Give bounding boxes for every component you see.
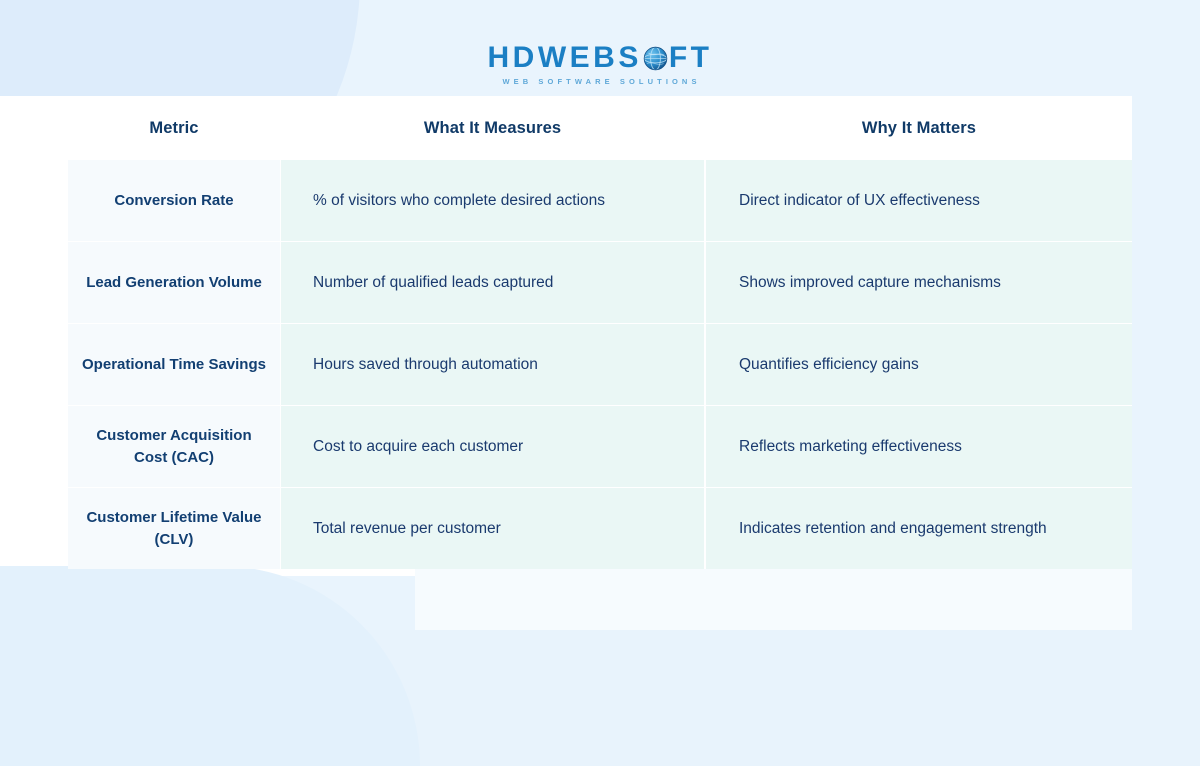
- logo-text-after-globe: FT: [669, 43, 713, 73]
- cell-metric: Lead Generation Volume: [68, 242, 280, 323]
- table-body: Conversion Rate % of visitors who comple…: [68, 160, 1132, 569]
- column-header-why-it-matters: Why It Matters: [706, 96, 1132, 160]
- cell-metric: Customer Lifetime Value (CLV): [68, 488, 280, 569]
- cell-why-it-matters: Direct indicator of UX effectiveness: [706, 160, 1132, 241]
- cell-why-it-matters: Reflects marketing effectiveness: [706, 406, 1132, 487]
- cell-metric: Operational Time Savings: [68, 324, 280, 405]
- table-row: Customer Lifetime Value (CLV) Total reve…: [68, 488, 1132, 569]
- cell-metric: Conversion Rate: [68, 160, 280, 241]
- decorative-panel-bottom-right: [415, 566, 1200, 630]
- cell-what-it-measures: % of visitors who complete desired actio…: [281, 160, 704, 241]
- cell-metric: Customer Acquisition Cost (CAC): [68, 406, 280, 487]
- cell-what-it-measures: Hours saved through automation: [281, 324, 704, 405]
- column-header-what-it-measures: What It Measures: [281, 96, 704, 160]
- column-header-metric: Metric: [68, 96, 280, 160]
- page-margin-right: [1132, 0, 1200, 630]
- cell-what-it-measures: Number of qualified leads captured: [281, 242, 704, 323]
- cell-why-it-matters: Indicates retention and engagement stren…: [706, 488, 1132, 569]
- table-row: Customer Acquisition Cost (CAC) Cost to …: [68, 406, 1132, 487]
- cell-what-it-measures: Total revenue per customer: [281, 488, 704, 569]
- metrics-table: Metric What It Measures Why It Matters C…: [68, 96, 1132, 569]
- table-row: Lead Generation Volume Number of qualifi…: [68, 242, 1132, 323]
- table-row: Operational Time Savings Hours saved thr…: [68, 324, 1132, 405]
- brand-logo: HDWEBS FT WEB SOFTWARE SO: [0, 36, 1200, 92]
- table-row: Conversion Rate % of visitors who comple…: [68, 160, 1132, 241]
- logo-wordmark: HDWEBS FT: [488, 43, 713, 73]
- table-header-row: Metric What It Measures Why It Matters: [68, 96, 1132, 160]
- cell-why-it-matters: Quantifies efficiency gains: [706, 324, 1132, 405]
- globe-icon: [643, 46, 668, 71]
- cell-what-it-measures: Cost to acquire each customer: [281, 406, 704, 487]
- logo-text-before-globe: HDWEBS: [488, 43, 642, 73]
- logo-tagline: WEB SOFTWARE SOLUTIONS: [499, 78, 700, 86]
- cell-why-it-matters: Shows improved capture mechanisms: [706, 242, 1132, 323]
